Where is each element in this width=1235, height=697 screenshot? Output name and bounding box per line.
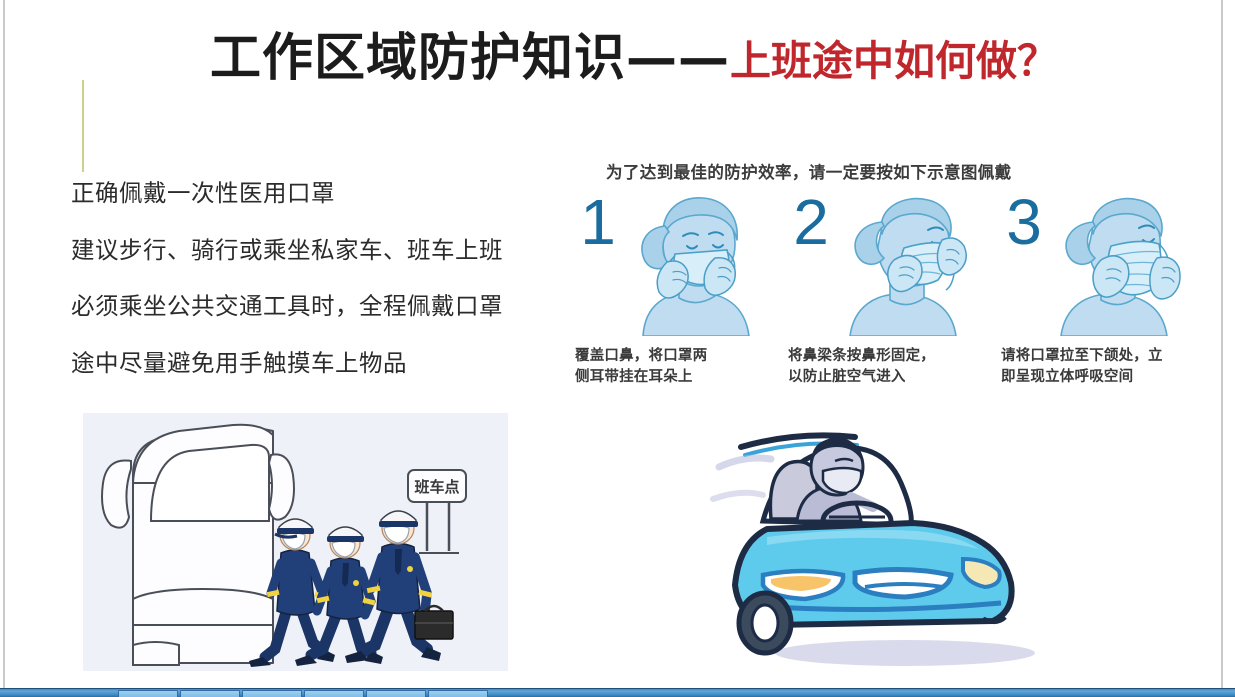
mask-step-3-number: 3 — [1001, 190, 1047, 254]
bullet-line: 途中尽量避免用手触摸车上物品 — [71, 352, 571, 376]
mask-step-1-caption: 覆盖口鼻，将口罩两 侧耳带挂在耳朵上 — [575, 346, 778, 388]
masked-driver-in-car-illustration — [705, 425, 1105, 675]
mask-step-3-figure: 3 — [1001, 188, 1204, 338]
mask-step-1: 1 — [575, 188, 778, 388]
briefcase — [415, 606, 453, 639]
car-wheel — [739, 593, 791, 653]
mask-guide-steps: 1 — [575, 188, 1215, 388]
caption-line: 侧耳带挂在耳朵上 — [575, 367, 778, 388]
taskbar-task-button[interactable] — [304, 690, 364, 697]
presentation-slide: 工作区域防护知识——上班途中如何做？ 正确佩戴一次性医用口罩 建议步行、骑行或乘… — [0, 0, 1235, 697]
slide-canvas: 工作区域防护知识——上班途中如何做？ 正确佩戴一次性医用口罩 建议步行、骑行或乘… — [5, 0, 1221, 688]
mask-guide-header: 为了达到最佳的防护效率，请一定要按如下示意图佩戴 — [606, 159, 1012, 183]
mask-step-3: 3 — [1001, 188, 1204, 388]
taskbar-task-button[interactable] — [180, 690, 240, 697]
caption-line: 即呈现立体呼吸空间 — [1001, 367, 1204, 388]
windows-taskbar[interactable] — [0, 688, 1235, 697]
accent-rule — [82, 80, 84, 172]
caption-line: 覆盖口鼻，将口罩两 — [575, 346, 778, 367]
page-title: 工作区域防护知识——上班途中如何做？ — [210, 33, 1010, 84]
page-title-sub: 上班途中如何做？ — [730, 37, 1058, 85]
bus-and-workers-drawing: 班车点 — [83, 413, 508, 671]
taskbar-task-button[interactable] — [118, 690, 178, 697]
mask-step-2: 2 — [788, 188, 991, 388]
taskbar-top-edge — [0, 688, 1235, 689]
page-title-main: 工作区域防护知识—— — [210, 29, 730, 88]
mask-step-2-figure: 2 — [788, 188, 991, 338]
caption-line: 请将口罩拉至下颌处，立 — [1001, 346, 1204, 367]
driver-mask — [823, 468, 861, 493]
bullet-line: 必须乘坐公共交通工具时，全程佩戴口罩 — [71, 295, 571, 319]
caption-line: 将鼻梁条按鼻形固定， — [788, 346, 991, 367]
taskbar-task-button[interactable] — [366, 690, 426, 697]
woman-pressing-nose-bridge-icon — [834, 188, 984, 336]
caption-line: 以防止脏空气进入 — [788, 367, 991, 388]
mask-step-1-figure: 1 — [575, 188, 778, 338]
mask-step-3-caption: 请将口罩拉至下颌处，立 即呈现立体呼吸空间 — [1001, 346, 1204, 388]
mask-step-2-caption: 将鼻梁条按鼻形固定， 以防止脏空气进入 — [788, 346, 991, 388]
workers-boarding-shuttle-bus-illustration: 班车点 — [83, 413, 508, 671]
woman-pressing-mask-icon — [621, 188, 771, 336]
bullet-list: 正确佩戴一次性医用口罩 建议步行、骑行或乘坐私家车、班车上班 必须乘坐公共交通工… — [71, 182, 571, 408]
mask-step-2-number: 2 — [788, 190, 834, 254]
bullet-line: 正确佩戴一次性医用口罩 — [71, 182, 571, 206]
bus-stop-sign-text: 班车点 — [414, 478, 459, 496]
bullet-line: 建议步行、骑行或乘坐私家车、班车上班 — [71, 239, 571, 263]
slide-right-border — [1221, 0, 1223, 688]
woman-pulling-mask-to-chin-icon — [1047, 188, 1197, 336]
mask-step-1-number: 1 — [575, 190, 621, 254]
taskbar-task-button[interactable] — [242, 690, 302, 697]
taskbar-task-button[interactable] — [428, 690, 488, 697]
blue-car-drawing — [705, 425, 1105, 675]
